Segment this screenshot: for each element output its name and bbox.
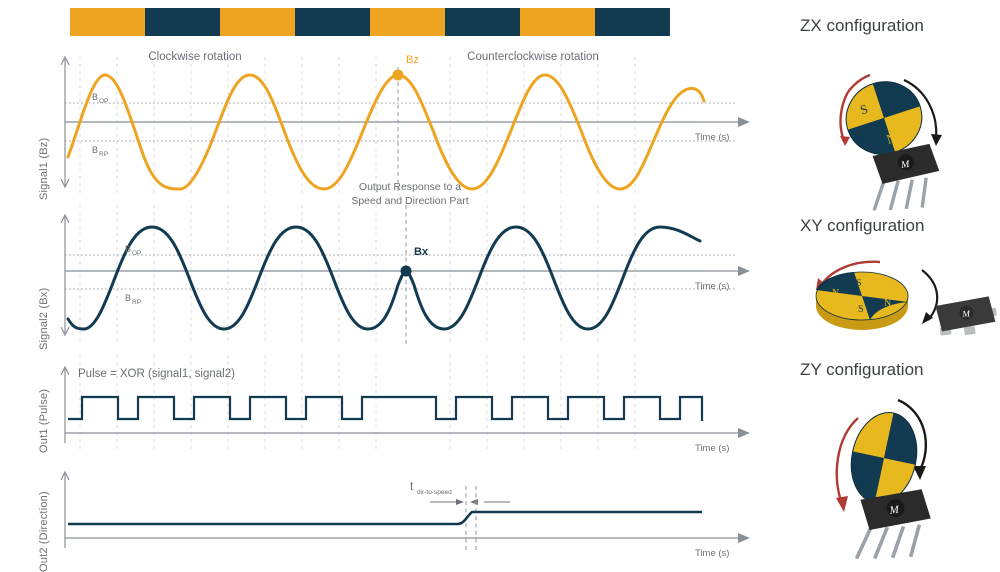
xor-formula: Pulse = XOR (signal1, signal2): [78, 368, 235, 380]
bz-marker-label: Bz: [406, 54, 419, 66]
config-xy-title: XY configuration: [800, 216, 924, 236]
x-axis: [700, 266, 750, 276]
plot-out2-canvas: t dir-to-speed Time (s): [40, 460, 760, 560]
pole-segment: [220, 8, 295, 36]
counterclockwise-label: Counterclockwise rotation: [467, 51, 599, 63]
config-zy-art: M: [780, 384, 1000, 559]
svg-text:B: B: [92, 92, 98, 102]
plot-out1-canvas: Pulse = XOR (signal1, signal2) Time (s): [40, 355, 760, 450]
waveform-out1: [68, 397, 702, 421]
config-zy: ZY configuration: [760, 352, 1000, 562]
pole-segment: [445, 8, 520, 36]
svg-text:t: t: [410, 479, 414, 493]
plot-signal1-canvas: Bz Clockwise rotation Counterclockwise r…: [40, 45, 760, 195]
pole-segment: [295, 8, 370, 36]
svg-text:B: B: [125, 244, 131, 254]
x-axis: [65, 533, 750, 543]
waveform-signal1: [68, 75, 704, 189]
svg-text:RP: RP: [132, 299, 141, 306]
config-xy-art: N N S S M: [780, 240, 1000, 350]
pole-segment: [145, 8, 220, 36]
bx-marker-dot: [401, 266, 412, 277]
waveform-signal2: [68, 227, 700, 329]
plot-out1: Out1 (Pulse): [0, 355, 760, 450]
svg-text:M: M: [961, 308, 971, 319]
plot-signal2: Signal2 (Bx): [0, 205, 760, 345]
black-rotation-arrow-icon: [922, 270, 937, 324]
plot-signal1: Signal1 (Bz): [0, 45, 760, 195]
t-dir-to-speed-annotation: t dir-to-speed: [410, 479, 510, 552]
magnet-pole-bar: [70, 8, 670, 36]
clockwise-label: Clockwise rotation: [148, 51, 241, 63]
config-zx-title: ZX configuration: [800, 16, 924, 36]
svg-text:N: N: [832, 288, 839, 299]
svg-text:RP: RP: [99, 151, 108, 158]
time-axis-label-4: Time (s): [695, 548, 729, 559]
x-axis: [65, 428, 750, 438]
svg-text:B: B: [92, 145, 98, 155]
config-zy-title: ZY configuration: [800, 360, 923, 380]
svg-text:S: S: [858, 304, 864, 315]
pole-segment: [370, 8, 445, 36]
config-xy: XY configuration N N: [760, 208, 1000, 348]
configuration-panel: ZX configuration: [760, 0, 1000, 565]
config-zx-art: S N N S M: [780, 40, 1000, 200]
y-axis: [61, 472, 69, 548]
waveform-out2: [68, 512, 702, 524]
threshold-bop-label: B OP: [125, 244, 141, 257]
package-leads: [853, 522, 922, 563]
svg-text:OP: OP: [132, 250, 141, 257]
config-zx: ZX configuration: [760, 8, 1000, 198]
svg-text:dir-to-speed: dir-to-speed: [417, 489, 452, 496]
svg-text:S: S: [856, 278, 862, 289]
y-axis: [61, 367, 69, 443]
sensor-package: M: [935, 296, 998, 338]
threshold-brp-label: B RP: [92, 145, 108, 158]
sensor-package: M: [850, 489, 934, 563]
pole-segment: [70, 8, 145, 36]
time-axis-label-2: Time (s): [695, 281, 729, 292]
center-annotation: Output Response to a Speed and Direction…: [330, 180, 490, 208]
x-axis: [700, 117, 750, 127]
pole-segment: [520, 8, 595, 36]
threshold-brp-label: B RP: [125, 293, 141, 306]
time-axis-label-3: Time (s): [695, 443, 729, 454]
svg-text:OP: OP: [99, 98, 108, 105]
svg-text:B: B: [125, 293, 131, 303]
center-annotation-line1: Output Response to a: [330, 180, 490, 194]
bx-marker-label: Bx: [414, 246, 429, 258]
svg-text:N: N: [884, 298, 891, 309]
y-axis: [61, 215, 69, 335]
magnet-disc: N N S S: [816, 272, 908, 330]
plot-signal2-canvas: Bx B OP B RP Time (s): [40, 205, 760, 345]
plot-out2: Out2 (Direction) t dir-to-speed: [0, 460, 760, 560]
time-axis-label-1: Time (s): [695, 132, 729, 143]
diagram-root: Signal1 (Bz): [0, 0, 1000, 565]
bz-marker-dot: [393, 70, 404, 81]
pole-segment: [595, 8, 670, 36]
